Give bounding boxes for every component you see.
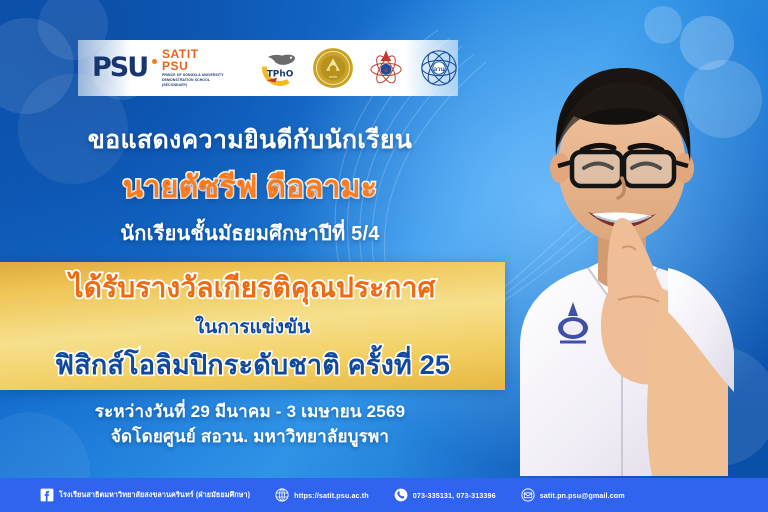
svg-text:อ: อ (384, 67, 388, 74)
phone-icon (394, 488, 408, 502)
event-details: ระหว่างวันที่ 29 มีนาคม - 3 เมษายน 2569 … (0, 400, 500, 449)
sor-or-wor-nor-logo: อ (364, 46, 408, 90)
award-title: ได้รับรางวัลเกียรติคุณประกาศ (70, 266, 436, 310)
sosowono-atom-logo: อวน (417, 46, 461, 90)
footer-facebook[interactable]: โรงเรียนสาธิตมหาวิทยาลัยสงขลานครินทร์ (ฝ… (40, 488, 250, 502)
email-icon (521, 488, 535, 502)
satit-psu-sublabel: PRINCE OF SONGKLA UNIVERSITY DEMONSTRATI… (162, 73, 226, 88)
congratulations-line: ขอแสดงความยินดีกับนักเรียน (0, 120, 500, 160)
award-banner: ได้รับรางวัลเกียรติคุณประกาศ ในการแข่งขั… (0, 262, 505, 390)
bokeh-circle (0, 18, 74, 114)
psu-accent-dot (152, 59, 157, 64)
tpho-logo: TPhO (258, 46, 302, 90)
facebook-label: โรงเรียนสาธิตมหาวิทยาลัยสงขลานครินทร์ (ฝ… (59, 490, 250, 501)
logo-bar: PSU SATIT PSU PRINCE OF SONGKLA UNIVERSI… (78, 40, 458, 96)
award-context-line: ในการแข่งขัน (195, 312, 310, 342)
student-class: นักเรียนชั้นมัธยมศึกษาปีที่ 5/4 (0, 217, 500, 249)
congratulation-poster: PSU SATIT PSU PRINCE OF SONGKLA UNIVERSI… (0, 0, 768, 512)
svg-text:อวน: อวน (434, 66, 444, 73)
website-label: https://satit.psu.ac.th (294, 491, 369, 500)
footer-contact-bar: โรงเรียนสาธิตมหาวิทยาลัยสงขลานครินทร์ (ฝ… (0, 478, 768, 512)
phone-label: 073-335131, 073-313396 (413, 491, 496, 500)
psu-logo: PSU SATIT PSU PRINCE OF SONGKLA UNIVERSI… (92, 48, 226, 89)
psu-wordmark: PSU (92, 54, 147, 81)
satit-psu-label: SATIT PSU (162, 48, 226, 73)
university-seal-logo (311, 46, 355, 90)
headline-block: ขอแสดงความยินดีกับนักเรียน นายตัซรีฟ ดือ… (0, 120, 500, 249)
globe-icon (275, 488, 289, 502)
event-dates: ระหว่างวันที่ 29 มีนาคม - 3 เมษายน 2569 (0, 400, 500, 425)
footer-website[interactable]: https://satit.psu.ac.th (275, 488, 369, 502)
svg-text:TPhO: TPhO (267, 69, 294, 79)
student-photo (472, 16, 768, 476)
footer-email[interactable]: satit.pn.psu@gmail.com (521, 488, 625, 502)
satit-lockup: SATIT PSU PRINCE OF SONGKLA UNIVERSITY D… (162, 48, 226, 89)
event-organizer: จัดโดยศูนย์ สอวน. มหาวิทยาลัยบูรพา (0, 425, 500, 450)
competition-name: ฟิสิกส์โอลิมปิกระดับชาติ ครั้งที่ 25 (55, 343, 450, 386)
facebook-icon (40, 488, 54, 502)
student-name: นายตัซรีฟ ดือลามะ (0, 164, 500, 211)
email-label: satit.pn.psu@gmail.com (540, 491, 625, 500)
footer-phone[interactable]: 073-335131, 073-313396 (394, 488, 496, 502)
